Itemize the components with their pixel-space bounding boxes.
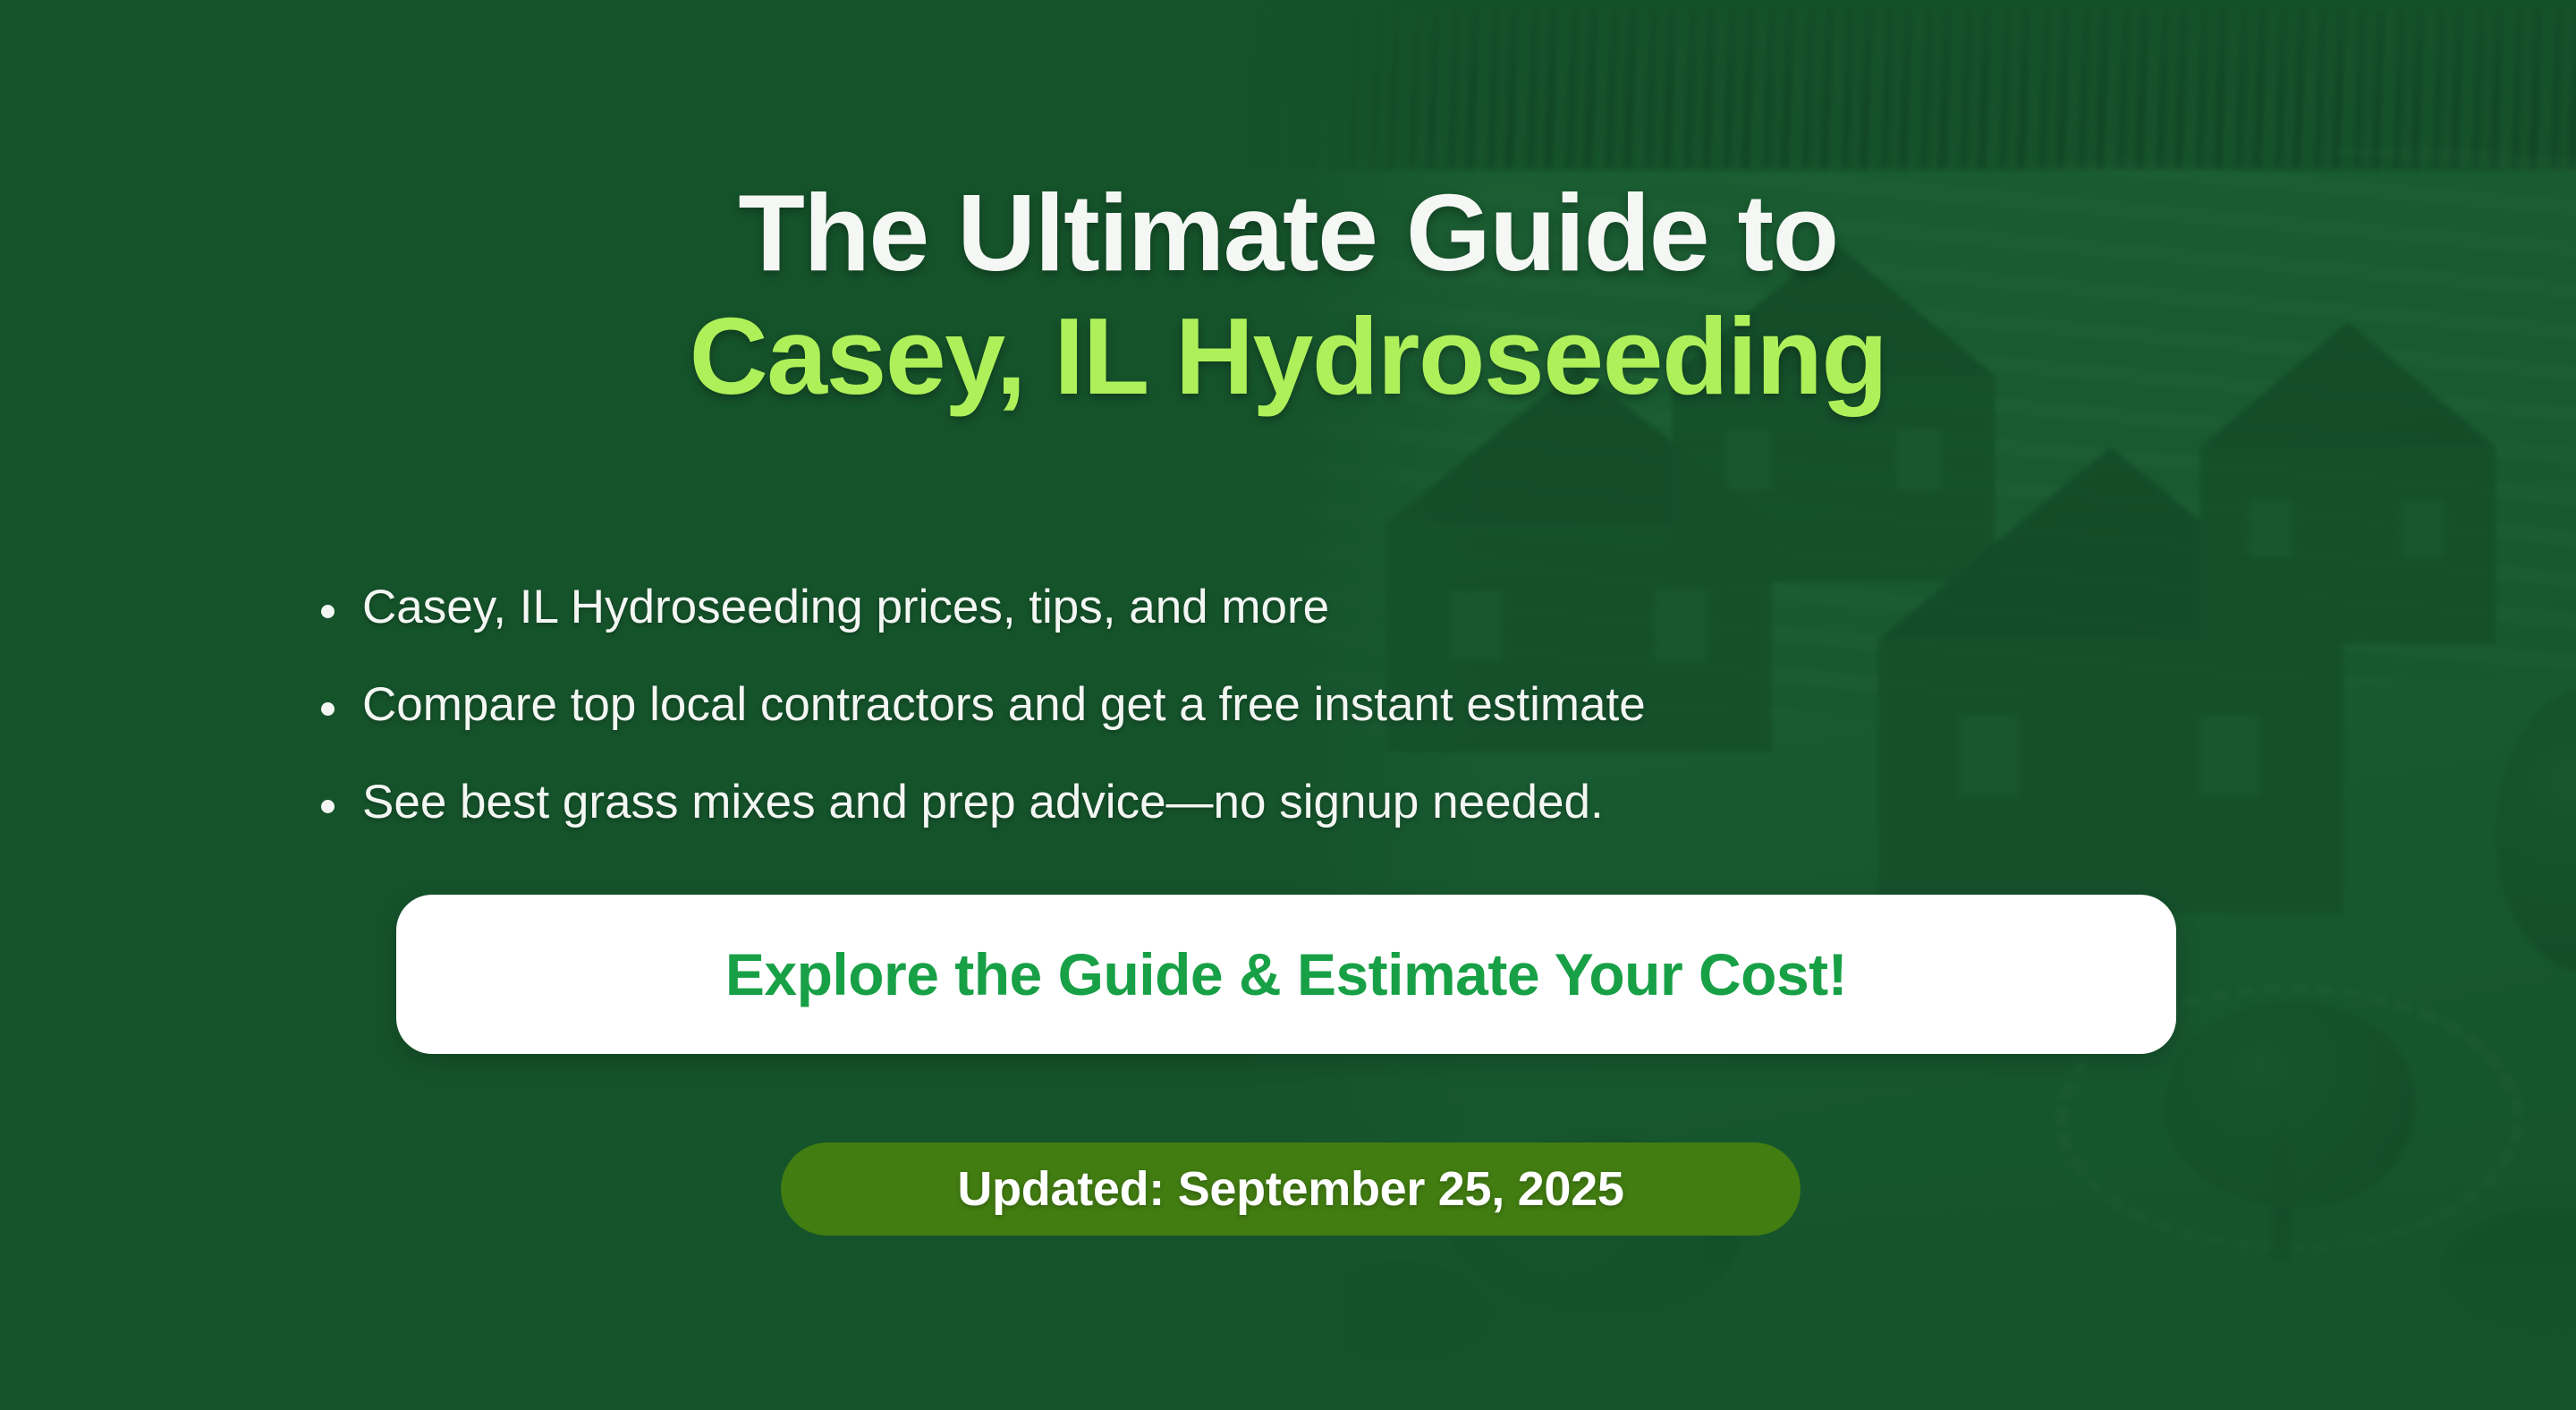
list-item: Casey, IL Hydroseeding prices, tips, and… <box>309 582 1646 633</box>
hero-banner: The Ultimate Guide to Casey, IL Hydrosee… <box>0 0 2576 1410</box>
list-item: Compare top local contractors and get a … <box>309 679 1646 730</box>
explore-guide-cta-button[interactable]: Explore the Guide & Estimate Your Cost! <box>396 895 2176 1054</box>
page-title: The Ultimate Guide to Casey, IL Hydrosee… <box>0 175 2576 414</box>
headline-line-primary: The Ultimate Guide to <box>0 175 2576 291</box>
bullet-text: Casey, IL Hydroseeding prices, tips, and… <box>362 581 1329 633</box>
headline-line-accent: Casey, IL Hydroseeding <box>0 299 2576 414</box>
banner-content: The Ultimate Guide to Casey, IL Hydrosee… <box>0 0 2576 1410</box>
benefits-list: Casey, IL Hydroseeding prices, tips, and… <box>309 582 1646 875</box>
bullet-text: Compare top local contractors and get a … <box>362 678 1646 731</box>
bullet-text: See best grass mixes and prep advice—no … <box>362 776 1604 828</box>
list-item: See best grass mixes and prep advice—no … <box>309 777 1646 828</box>
updated-date-badge: Updated: September 25, 2025 <box>781 1142 1801 1236</box>
